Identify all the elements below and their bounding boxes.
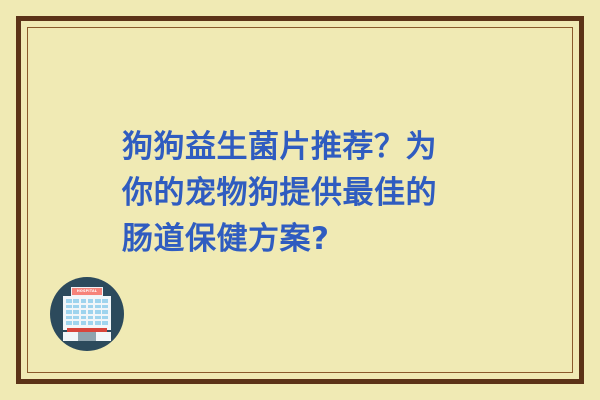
hospital-entrance-door [78, 332, 96, 342]
hospital-window [95, 316, 101, 320]
headline-block: 狗狗益生菌片推荐？为 你的宠物狗提供最佳的 肠道保健方案? [122, 124, 502, 262]
hospital-window [102, 316, 108, 320]
hospital-window [73, 310, 79, 314]
headline-line-1: 狗狗益生菌片推荐？为 [122, 124, 502, 170]
hospital-badge: HOSPITAL [50, 277, 124, 351]
hospital-window [102, 299, 108, 303]
hospital-window [88, 321, 94, 325]
hospital-window [88, 299, 94, 303]
hospital-building-icon: HOSPITAL [63, 287, 111, 341]
hospital-window [66, 321, 72, 325]
hospital-window [66, 316, 72, 320]
hospital-window [81, 299, 87, 303]
hospital-window [88, 316, 94, 320]
headline-line-3: 肠道保健方案? [122, 216, 502, 262]
hospital-window [66, 299, 72, 303]
headline-line-2: 你的宠物狗提供最佳的 [122, 170, 502, 216]
hospital-window [73, 305, 79, 309]
hospital-window [95, 305, 101, 309]
hospital-sign-label: HOSPITAL [72, 288, 102, 295]
hospital-window [81, 316, 87, 320]
hospital-window [88, 310, 94, 314]
poster-canvas: 狗狗益生菌片推荐？为 你的宠物狗提供最佳的 肠道保健方案? HOSPITAL [0, 0, 600, 400]
hospital-window [81, 310, 87, 314]
hospital-window [66, 305, 72, 309]
hospital-window [88, 305, 94, 309]
hospital-window [73, 316, 79, 320]
hospital-window [73, 321, 79, 325]
hospital-window-grid [66, 299, 108, 325]
hospital-window [81, 305, 87, 309]
hospital-window [102, 305, 108, 309]
hospital-window [73, 299, 79, 303]
hospital-window [102, 310, 108, 314]
hospital-sign: HOSPITAL [71, 287, 103, 296]
hospital-window [81, 321, 87, 325]
hospital-window [102, 321, 108, 325]
hospital-window [66, 310, 72, 314]
hospital-window [95, 299, 101, 303]
hospital-window [95, 310, 101, 314]
hospital-window [95, 321, 101, 325]
